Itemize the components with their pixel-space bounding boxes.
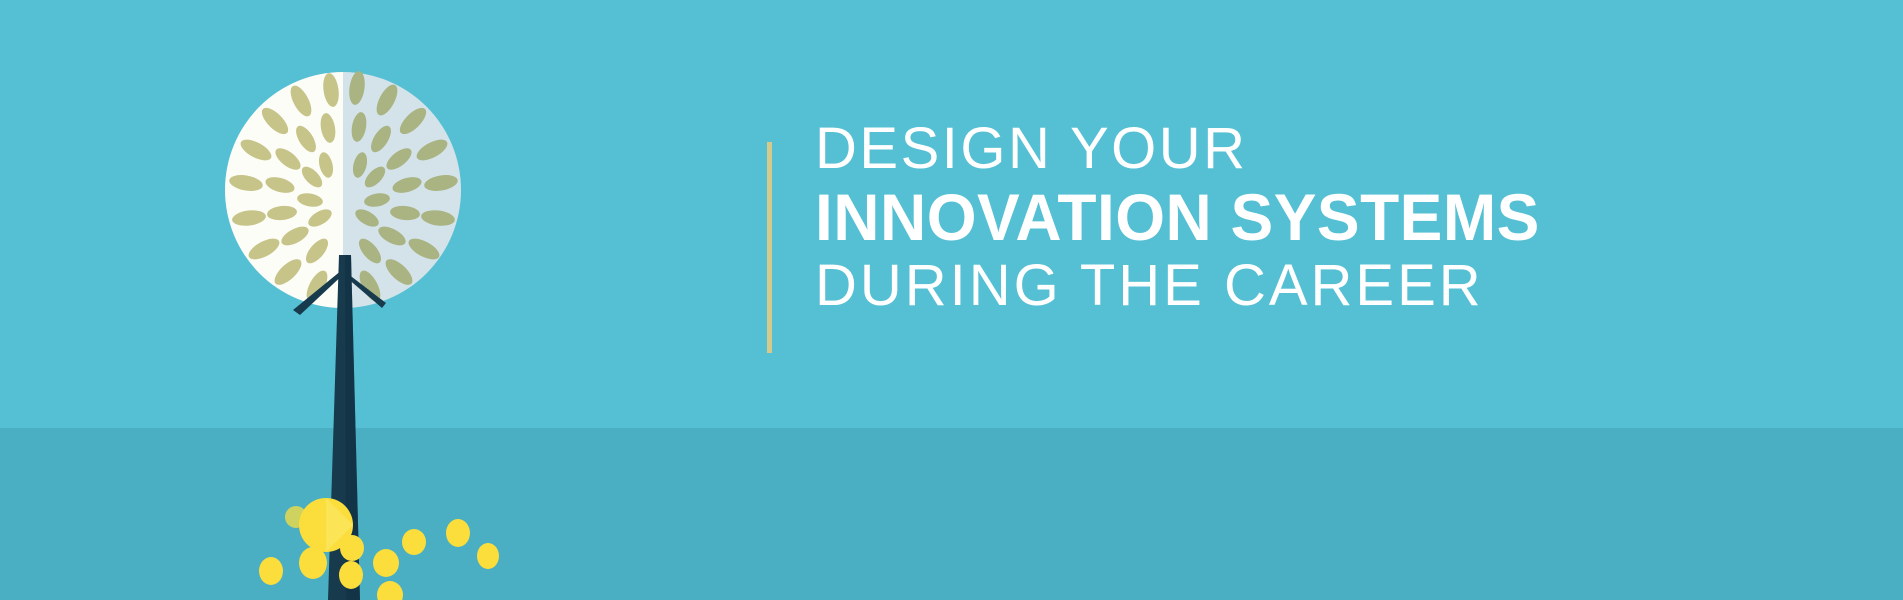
- tree-illustration: [200, 55, 520, 600]
- headline-line-1: DESIGN YOUR: [815, 118, 1865, 180]
- accent-bar: [767, 142, 772, 353]
- headline-line-2: INNOVATION SYSTEMS: [815, 180, 1834, 254]
- tree-fruits: [259, 498, 499, 600]
- promo-banner: DESIGN YOUR INNOVATION SYSTEMS DURING TH…: [0, 0, 1903, 600]
- headline-line-3: DURING THE CAREER: [815, 254, 1865, 318]
- headline-block: DESIGN YOUR INNOVATION SYSTEMS DURING TH…: [815, 118, 1865, 318]
